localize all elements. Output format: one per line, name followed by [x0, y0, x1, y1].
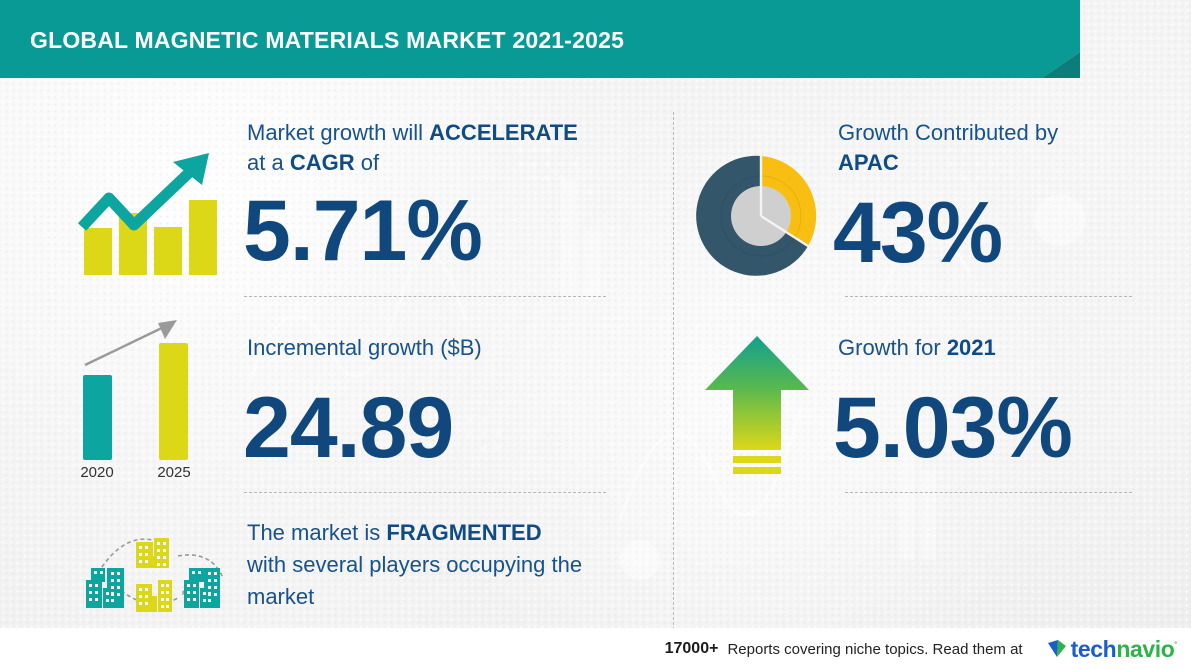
cagr-description: Market growth will ACCELERATE at a CAGR …: [247, 118, 647, 178]
donut-chart-icon: [693, 148, 829, 289]
incremental-growth-label: Incremental growth ($B): [247, 333, 647, 363]
divider-right-2: [845, 492, 1132, 493]
logo-text-navio: navio: [1116, 636, 1174, 662]
apac-line1: Growth Contributed by: [838, 120, 1058, 145]
divider-left-1: [244, 296, 606, 297]
technavio-arrow-icon: [1046, 637, 1068, 661]
logo-text-tech: tech: [1071, 636, 1117, 662]
footer-bar: 17000+ Reports covering niche topics. Re…: [0, 628, 1191, 670]
growth-2021-line1-strong: 2021: [947, 335, 996, 360]
growth-2021-value: 5.03%: [833, 385, 1072, 471]
growth-2021-line1-pre: Growth for: [838, 335, 947, 360]
svg-text:2025: 2025: [157, 464, 190, 480]
up-arrow-icon: [697, 332, 817, 487]
infographic-canvas: GLOBAL MAGNETIC MATERIALS MARKET 2021-20…: [0, 0, 1191, 670]
cagr-line1-strong: ACCELERATE: [429, 120, 578, 145]
growth-chart-icon: [62, 135, 232, 285]
cagr-line2-strong: CAGR: [290, 150, 355, 175]
apac-description: Growth Contributed by APAC: [838, 118, 1168, 178]
footer-report-count: 17000+: [665, 640, 719, 658]
growth-2021-description: Growth for 2021: [838, 333, 1168, 363]
bar-chart-icon: 2020 2025: [58, 305, 233, 485]
fragmentation-line2: with several players occupying the: [247, 552, 582, 577]
logo-trademark: ˚: [1174, 640, 1177, 650]
divider-right-1: [845, 296, 1132, 297]
column-divider: [673, 112, 674, 630]
page-title: GLOBAL MAGNETIC MATERIALS MARKET 2021-20…: [30, 27, 624, 54]
incremental-growth-value: 24.89: [243, 385, 453, 471]
fragmentation-line1-pre: The market is: [247, 520, 386, 545]
cagr-line1-pre: Market growth will: [247, 120, 429, 145]
cagr-line2-pre: at a: [247, 150, 290, 175]
apac-value: 43%: [833, 190, 1002, 276]
svg-text:2020: 2020: [80, 464, 113, 480]
divider-left-2: [244, 492, 606, 493]
fragmentation-description: The market is FRAGMENTED with several pl…: [247, 517, 647, 613]
city-cluster-icon: [58, 518, 243, 628]
cagr-value: 5.71%: [243, 188, 482, 274]
apac-line2-strong: APAC: [838, 150, 899, 175]
fragmentation-line1-strong: FRAGMENTED: [386, 520, 541, 545]
technavio-logo[interactable]: technavio˚: [1046, 636, 1177, 663]
fragmentation-line3: market: [247, 584, 314, 609]
footer-tagline: Reports covering niche topics. Read them…: [727, 641, 1022, 658]
cagr-line2-post: of: [355, 150, 379, 175]
